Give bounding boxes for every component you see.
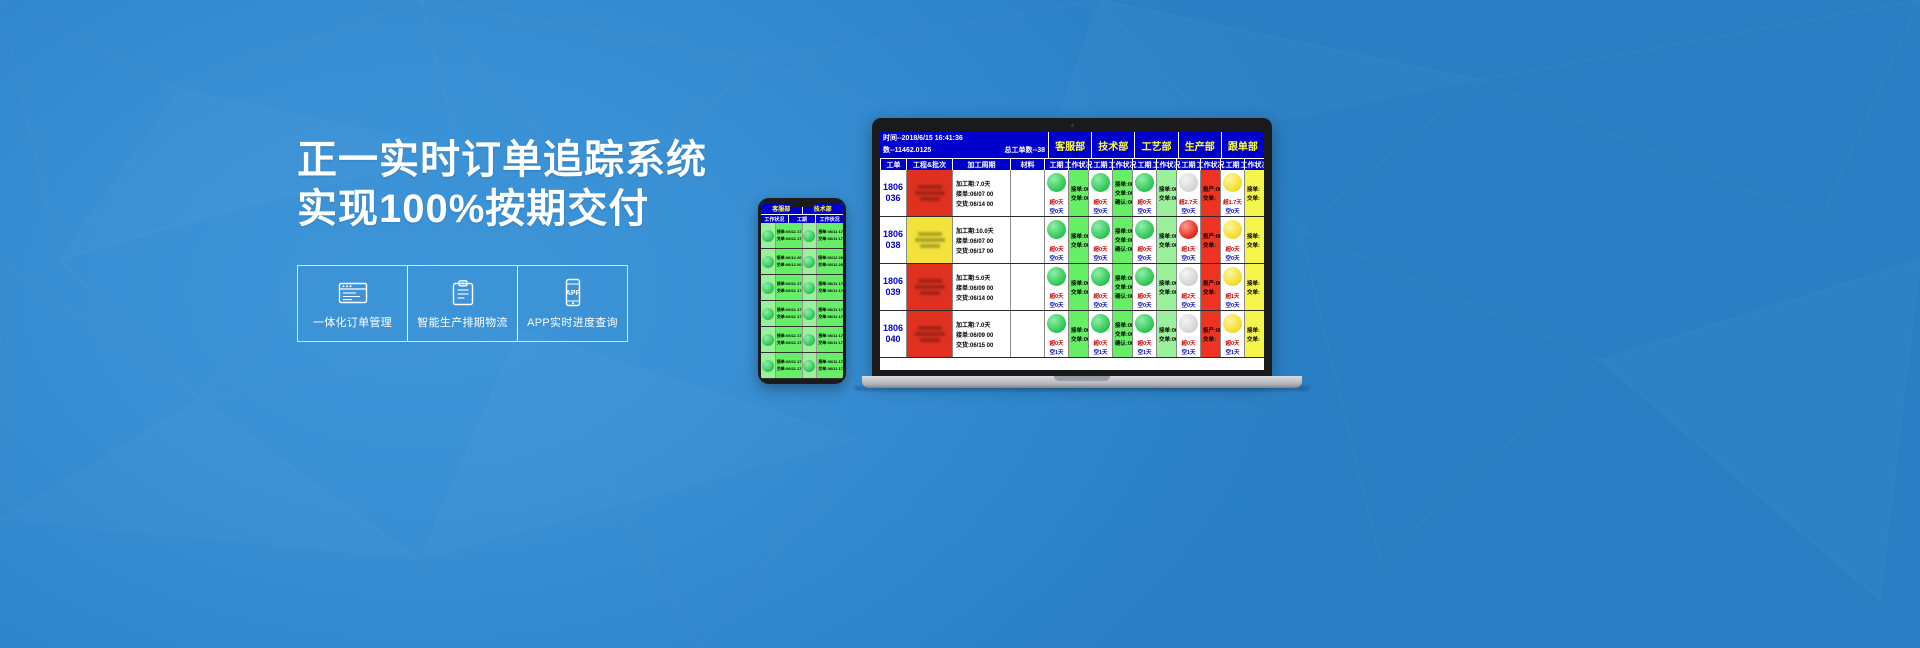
phone-note-cell: 接单:06/11 17交单:06/11 17	[816, 353, 843, 378]
status-indicator-green	[803, 230, 815, 242]
status-note: 交单:06/11 17	[1115, 330, 1130, 338]
status-note: 交单:06/11 17	[777, 366, 802, 372]
meta-number: 数--11462.0125	[883, 145, 931, 157]
laptop-mockup: 时间--2018/6/15 16:41:36 数--11462.0125 总工单…	[862, 118, 1324, 418]
status-indicator-green	[1135, 267, 1154, 286]
status-note: 交单:06/11 17	[777, 236, 802, 242]
duration-tag: 超2天	[1181, 292, 1195, 300]
duration-tag: 空0天	[1049, 207, 1063, 215]
status-note: 交单:06/12 09	[1159, 288, 1174, 296]
status-note: 接单:06/12 20	[777, 255, 802, 261]
duration-tag: 超1天	[1181, 245, 1195, 253]
duration-cell: 超0天空0天	[1044, 217, 1068, 263]
status-note: 交单:	[1247, 194, 1262, 202]
work-order-cell: 1806038	[880, 217, 906, 263]
status-note: 交单:06/11 17	[777, 340, 802, 346]
status-indicator-green	[1091, 314, 1110, 333]
feature-card-order-management[interactable]: 一体化订单管理	[297, 265, 408, 342]
phone-status-cell	[802, 327, 817, 352]
status-note: 接单:06/11 17	[1115, 274, 1130, 282]
status-note: 交单:06/12 20	[777, 262, 802, 268]
phone-column-header: 工作状况 工期 工作状况	[761, 214, 843, 223]
duration-cell: 超0天空0天	[1088, 264, 1112, 310]
status-note: 接单:06/12 20	[1115, 227, 1130, 235]
duration-cell: 超0天空0天	[1044, 170, 1068, 216]
status-note: 接单:	[1247, 232, 1262, 240]
material-cell	[1010, 217, 1044, 263]
status-note: 投产:06/12 09	[1203, 279, 1218, 287]
duration-tag: 空0天	[1225, 301, 1239, 309]
phone-table-row[interactable]: 接单:06/11 17交单:06/11 17接单:06/11 17交单:06/1…	[761, 223, 843, 249]
duration-cell: 超0天空0天	[1132, 217, 1156, 263]
column-label: 工作状况	[1156, 159, 1176, 170]
status-note: 接单:06/14 08	[1159, 232, 1174, 240]
duration-cell: 超0天空1天	[1044, 311, 1068, 357]
column-label: 材料	[1010, 159, 1044, 170]
status-indicator-green	[1135, 173, 1154, 192]
phone-status-cell	[802, 275, 817, 300]
dashboard-table-body: 1806036加工期:7.0天接单:06/07 00交货:06/14 00超0天…	[880, 170, 1264, 370]
smartphone-mockup: 客服部 技术部 工作状况 工期 工作状况 接单:06/11 17交单:06/11…	[758, 198, 846, 384]
duration-tag: 超0天	[1049, 339, 1063, 347]
status-indicator-gray	[1179, 314, 1198, 333]
column-label: 工单	[880, 159, 906, 170]
phone-note-cell: 接单:06/11 17交单:06/11 17	[775, 275, 802, 300]
processing-cycle-cell: 加工期:7.0天接单:06/09 00交货:06/15 00	[952, 311, 1010, 357]
phone-note-cell: 接单:06/11 17交单:06/11 17	[816, 327, 843, 352]
duration-tag: 超0天	[1093, 245, 1107, 253]
dashboard-header: 时间--2018/6/15 16:41:36 数--11462.0125 总工单…	[880, 132, 1264, 158]
status-indicator-yellow	[1223, 220, 1242, 239]
status-note: 交单:06/11 17	[818, 314, 843, 320]
status-note: 接单:	[1247, 185, 1262, 193]
duration-tag: 超0天	[1225, 339, 1239, 347]
duration-cell: 超0天空1天	[1088, 311, 1112, 357]
dashboard-meta: 时间--2018/6/15 16:41:36 数--11462.0125 总工单…	[880, 132, 1048, 158]
status-note: 交单:06/11 17	[1071, 194, 1086, 202]
phone-status-cell	[761, 249, 775, 274]
processing-cycle-cell: 加工期:7.0天接单:06/07 00交货:06/14 00	[952, 170, 1010, 216]
duration-tag: 空0天	[1137, 207, 1151, 215]
project-batch-cell	[906, 311, 952, 357]
duration-tag: 超0天	[1093, 339, 1107, 347]
processing-cycle-cell: 加工期:10.0天接单:06/07 00交货:06/17 00	[952, 217, 1010, 263]
duration-cell: 超0天空0天	[1088, 170, 1112, 216]
hero-banner: 正一实时订单追踪系统 实现100%按期交付 一体化订单管理	[0, 0, 1920, 648]
status-note: 接单:06/11 17	[1115, 180, 1130, 188]
work-status-cell: 投产:06/11 17交单:	[1200, 311, 1220, 357]
phone-screen[interactable]: 客服部 技术部 工作状况 工期 工作状况 接单:06/11 17交单:06/11…	[761, 203, 843, 379]
phone-note-cell: 接单:06/12 20交单:06/12 20	[816, 249, 843, 274]
status-note: 接单:06/11 17	[1159, 326, 1174, 334]
phone-note-cell: 接单:06/11 17交单:06/11 17	[775, 327, 802, 352]
work-status-cell: 接单:06/11 17交单:06/11 17确认:06/11 17	[1112, 170, 1132, 216]
status-note: 接单:	[1247, 326, 1262, 334]
status-note: 投产:06/14 14	[1203, 232, 1218, 240]
work-status-cell: 接单:06/11 17交单:06/11 17	[1068, 264, 1088, 310]
meta-time: 时间--2018/6/15 16:41:36	[883, 133, 1045, 145]
column-header-row: 工单工程&批次加工周期材料工期工作状况工期工作状况工期工作状况工期工作状况工期工…	[880, 158, 1264, 170]
work-status-cell: 接单:交单:	[1244, 264, 1264, 310]
department-title: 跟单部	[1221, 132, 1264, 158]
status-note: 交单:06/14 08	[1115, 236, 1130, 244]
material-cell	[1010, 264, 1044, 310]
phone-notch	[789, 202, 815, 207]
status-note: 确认:06/11 17	[1115, 292, 1130, 300]
status-note: 交单:06/12 09	[1159, 194, 1174, 202]
table-row[interactable]: 1806039加工期:5.0天接单:06/09 00交货:06/14 00超0天…	[880, 264, 1264, 311]
status-note: 接单:06/11 17	[777, 359, 802, 365]
phone-note-cell: 接单:06/11 17交单:06/11 17	[816, 223, 843, 248]
feature-label: 智能生产排期物流	[417, 314, 507, 330]
duration-cell: 超0天空0天	[1220, 217, 1244, 263]
status-note: 接单:	[1247, 279, 1262, 287]
phone-table-row[interactable]: 接单:06/11 17交单:06/11 17接单:06/11 17交单:06/1…	[761, 275, 843, 301]
duration-tag: 空0天	[1137, 301, 1151, 309]
status-indicator-green	[762, 334, 774, 346]
work-status-cell: 接单:交单:	[1244, 170, 1264, 216]
hero-copy: 正一实时订单追踪系统 实现100%按期交付	[297, 136, 717, 234]
work-status-cell: 接单:06/11 17交单:06/11 17	[1068, 311, 1088, 357]
status-indicator-green	[803, 256, 815, 268]
phone-note-cell: 接单:06/11 17交单:06/11 17	[816, 301, 843, 326]
duration-tag: 空0天	[1093, 254, 1107, 262]
duration-cell: 超0天空0天	[1044, 264, 1068, 310]
duration-tag: 空0天	[1049, 254, 1063, 262]
status-note: 交单:	[1203, 335, 1218, 343]
status-indicator-green	[762, 308, 774, 320]
status-note: 交单:	[1203, 288, 1218, 296]
work-status-cell: 接单:06/12 20交单:06/12 20	[1068, 217, 1088, 263]
duration-cell: 超2.7天空0天	[1176, 170, 1200, 216]
duration-tag: 超0天	[1093, 198, 1107, 206]
clipboard-checklist-icon	[450, 278, 476, 308]
duration-tag: 空1天	[1093, 348, 1107, 356]
status-note: 接单:06/12 20	[1071, 232, 1086, 240]
status-note: 交单:06/14 14	[1159, 241, 1174, 249]
status-note: 交单:	[1203, 241, 1218, 249]
phone-note-cell: 接单:06/11 17交单:06/11 17	[816, 275, 843, 300]
status-note: 确认:06/11 17	[1115, 198, 1130, 206]
duration-cell: 超1天空0天	[1220, 264, 1244, 310]
status-indicator-green	[803, 308, 815, 320]
duration-tag: 空0天	[1137, 254, 1151, 262]
phone-status-cell	[802, 353, 817, 378]
phone-note-cell: 接单:06/12 20交单:06/12 20	[775, 249, 802, 274]
laptop-lid: 时间--2018/6/15 16:41:36 数--11462.0125 总工单…	[872, 118, 1272, 380]
status-indicator-green	[762, 360, 774, 372]
duration-cell: 超0天空1天	[1220, 311, 1244, 357]
phone-note-cell: 接单:06/11 17交单:06/11 17	[775, 301, 802, 326]
work-status-cell: 接单:06/11 17交单:06/11 17	[1068, 170, 1088, 216]
status-note: 接单:06/11 17	[1071, 326, 1086, 334]
column-label: 工作状况	[1112, 159, 1132, 170]
duration-tag: 超0天	[1181, 339, 1195, 347]
duration-tag: 空0天	[1181, 254, 1195, 262]
status-indicator-green	[1047, 220, 1066, 239]
status-note: 交单:06/11 17	[777, 288, 802, 294]
duration-tag: 超0天	[1137, 292, 1151, 300]
status-indicator-green	[1047, 173, 1066, 192]
svg-text:APP: APP	[565, 290, 580, 297]
status-indicator-green	[762, 282, 774, 294]
department-title: 生产部	[1178, 132, 1221, 158]
status-indicator-green	[1047, 314, 1066, 333]
status-note: 交单:06/11 17	[777, 314, 802, 320]
status-note: 接单:06/11 17	[818, 307, 843, 313]
material-cell	[1010, 170, 1044, 216]
status-note: 交单:06/12 20	[818, 262, 843, 268]
status-indicator-yellow	[1223, 267, 1242, 286]
status-note: 接单:06/11 17	[818, 359, 843, 365]
status-note: 交单:06/11 17	[1071, 335, 1086, 343]
work-order-cell: 1806036	[880, 170, 906, 216]
feature-card-production-logistics[interactable]: 智能生产排期物流	[407, 265, 518, 342]
phone-table-row[interactable]: 接单:06/11 17交单:06/11 17接单:06/11 17交单:06/1…	[761, 327, 843, 353]
status-note: 交单:06/11 17	[818, 288, 843, 294]
duration-cell: 超2天空0天	[1176, 264, 1200, 310]
work-status-cell: 接单:06/11 17交单:06/12 09	[1156, 170, 1176, 216]
phone-table-row[interactable]: 接单:06/11 17交单:06/11 17接单:06/11 17交单:06/1…	[761, 301, 843, 327]
material-cell	[1010, 311, 1044, 357]
status-indicator-green	[803, 360, 815, 372]
dashboard-screen[interactable]: 时间--2018/6/15 16:41:36 数--11462.0125 总工单…	[880, 132, 1264, 370]
duration-cell: 超0天空1天	[1132, 311, 1156, 357]
work-status-cell: 接单:交单:	[1244, 311, 1264, 357]
phone-table-row[interactable]: 接单:06/11 17交单:06/11 17接单:06/11 17交单:06/1…	[761, 353, 843, 379]
feature-label: 一体化订单管理	[313, 314, 392, 330]
duration-tag: 空0天	[1049, 301, 1063, 309]
duration-cell: 超0天空0天	[1132, 170, 1156, 216]
status-note: 交单:06/12 20	[1071, 241, 1086, 249]
status-indicator-green	[762, 230, 774, 242]
status-note: 交单:	[1247, 335, 1262, 343]
status-indicator-gray	[1179, 267, 1198, 286]
work-order-cell: 1806040	[880, 311, 906, 357]
status-indicator-green	[803, 282, 815, 294]
status-note: 接单:06/11 17	[818, 229, 843, 235]
meta-total-orders: 总工单数--38	[1005, 145, 1045, 157]
phone-note-cell: 接单:06/11 17交单:06/11 17	[775, 353, 802, 378]
status-note: 接单:06/11 17	[1159, 185, 1174, 193]
department-title: 客服部	[1048, 132, 1091, 158]
phone-status-cell	[761, 301, 775, 326]
phone-status-cell	[761, 223, 775, 248]
status-note: 交单:	[1203, 194, 1218, 202]
phone-col-label: 工作状况	[761, 215, 788, 223]
status-note: 接单:06/11 17	[777, 229, 802, 235]
duration-tag: 空0天	[1225, 254, 1239, 262]
status-indicator-green	[1135, 314, 1154, 333]
status-note: 接单:06/11 17	[1115, 321, 1130, 329]
status-indicator-gray	[1179, 173, 1198, 192]
status-note: 交单:06/11 17	[1115, 189, 1130, 197]
work-status-cell: 接单:06/11 17交单:06/11 17确认:06/11 17	[1112, 264, 1132, 310]
duration-tag: 空0天	[1181, 301, 1195, 309]
status-note: 交单:06/11 17	[818, 340, 843, 346]
duration-tag: 超1.7天	[1223, 198, 1242, 206]
status-indicator-yellow	[1223, 173, 1242, 192]
status-note: 投产:06/12 09	[1203, 185, 1218, 193]
project-batch-cell	[906, 264, 952, 310]
project-batch-cell	[906, 170, 952, 216]
status-indicator-red	[1179, 220, 1198, 239]
phone-status-cell	[761, 353, 775, 378]
duration-tag: 空0天	[1093, 301, 1107, 309]
status-note: 交单:06/11 17	[818, 366, 843, 372]
duration-tag: 超0天	[1049, 245, 1063, 253]
phone-status-cell	[761, 275, 775, 300]
browser-window-icon	[338, 278, 368, 308]
work-status-cell: 接单:06/11 17交单:06/11 17确认:06/11 17	[1112, 311, 1132, 357]
feature-list: 一体化订单管理 智能生产排期物流	[297, 265, 628, 342]
work-status-cell: 接单:06/12 20交单:06/14 08确认:06/14 08	[1112, 217, 1132, 263]
table-row[interactable]: 1806038加工期:10.0天接单:06/07 00交货:06/17 00超0…	[880, 217, 1264, 264]
column-label: 工作状况	[1200, 159, 1220, 170]
duration-tag: 超0天	[1049, 292, 1063, 300]
duration-tag: 超0天	[1093, 292, 1107, 300]
duration-cell: 超0天空1天	[1176, 311, 1200, 357]
department-header-row: 客服部技术部工艺部生产部跟单部	[1048, 132, 1264, 158]
status-note: 交单:06/11 17	[1159, 335, 1174, 343]
phone-note-cell: 接单:06/11 17交单:06/11 17	[775, 223, 802, 248]
status-note: 接单:06/12 20	[818, 255, 843, 261]
duration-tag: 空0天	[1093, 207, 1107, 215]
duration-tag: 空1天	[1225, 348, 1239, 356]
feature-card-app-progress-query[interactable]: APP APP实时进度查询	[517, 265, 628, 342]
duration-tag: 超2.7天	[1179, 198, 1198, 206]
work-order-cell: 1806039	[880, 264, 906, 310]
duration-tag: 超0天	[1137, 339, 1151, 347]
work-status-cell: 接单:交单:	[1244, 217, 1264, 263]
status-indicator-green	[1047, 267, 1066, 286]
status-note: 接单:06/11 17	[777, 307, 802, 313]
status-note: 交单:06/11 17	[818, 236, 843, 242]
status-note: 交单:06/11 17	[1071, 288, 1086, 296]
status-note: 投产:06/11 17	[1203, 326, 1218, 334]
duration-tag: 空1天	[1049, 348, 1063, 356]
department-title: 工艺部	[1134, 132, 1177, 158]
laptop-shadow	[854, 386, 1310, 391]
duration-cell: 超0天空0天	[1132, 264, 1156, 310]
status-indicator-green	[762, 256, 774, 268]
duration-cell: 超0天空0天	[1088, 217, 1112, 263]
work-status-cell: 投产:06/12 09交单:	[1200, 264, 1220, 310]
phone-status-cell	[802, 249, 817, 274]
status-note: 确认:06/11 17	[1115, 339, 1130, 347]
phone-status-cell	[802, 301, 817, 326]
phone-body: 客服部 技术部 工作状况 工期 工作状况 接单:06/11 17交单:06/11…	[758, 198, 846, 384]
column-label: 工作状况	[1244, 159, 1264, 170]
status-indicator-green	[803, 334, 815, 346]
duration-tag: 空1天	[1137, 348, 1151, 356]
work-status-cell: 接单:06/11 17交单:06/12 09	[1156, 264, 1176, 310]
status-indicator-yellow	[1223, 314, 1242, 333]
phone-col-label: 工作状况	[815, 215, 843, 223]
status-indicator-green	[1091, 220, 1110, 239]
duration-tag: 空1天	[1181, 348, 1195, 356]
duration-tag: 超0天	[1137, 245, 1151, 253]
mobile-app-icon: APP	[562, 278, 584, 308]
status-note: 接单:06/11 17	[1071, 279, 1086, 287]
duration-tag: 超0天	[1049, 198, 1063, 206]
duration-tag: 超0天	[1225, 245, 1239, 253]
status-note: 交单:06/11 17	[1115, 283, 1130, 291]
status-note: 接单:06/11 17	[1071, 185, 1086, 193]
department-title: 技术部	[1091, 132, 1134, 158]
phone-col-label: 工期	[788, 215, 816, 223]
status-indicator-green	[1091, 173, 1110, 192]
headline-line-2: 实现100%按期交付	[297, 185, 717, 234]
phone-row-list: 接单:06/11 17交单:06/11 17接单:06/11 17交单:06/1…	[761, 223, 843, 379]
duration-tag: 空0天	[1225, 207, 1239, 215]
column-label: 加工周期	[952, 159, 1010, 170]
phone-status-cell	[761, 327, 775, 352]
status-note: 接单:06/11 17	[777, 281, 802, 287]
phone-table-row[interactable]: 接单:06/12 20交单:06/12 20接单:06/12 20交单:06/1…	[761, 249, 843, 275]
work-status-cell: 投产:06/12 09交单:	[1200, 170, 1220, 216]
feature-label: APP实时进度查询	[527, 314, 618, 330]
work-status-cell: 投产:06/14 14交单:	[1200, 217, 1220, 263]
status-note: 交单:	[1247, 288, 1262, 296]
processing-cycle-cell: 加工期:5.0天接单:06/09 00交货:06/14 00	[952, 264, 1010, 310]
phone-status-cell	[802, 223, 817, 248]
duration-cell: 超1天空0天	[1176, 217, 1200, 263]
headline-line-1: 正一实时订单追踪系统	[297, 136, 717, 185]
status-indicator-green	[1135, 220, 1154, 239]
work-status-cell: 接单:06/11 17交单:06/11 17	[1156, 311, 1176, 357]
status-note: 接单:06/11 17	[818, 333, 843, 339]
column-label: 工作状况	[1068, 159, 1088, 170]
duration-cell: 超1.7天空0天	[1220, 170, 1244, 216]
duration-tag: 超1天	[1225, 292, 1239, 300]
status-note: 交单:	[1247, 241, 1262, 249]
table-row[interactable]: 1806036加工期:7.0天接单:06/07 00交货:06/14 00超0天…	[880, 170, 1264, 217]
status-note: 接单:06/11 17	[818, 281, 843, 287]
status-note: 接单:06/11 17	[1159, 279, 1174, 287]
work-status-cell: 接单:06/14 08交单:06/14 14	[1156, 217, 1176, 263]
status-indicator-green	[1091, 267, 1110, 286]
project-batch-cell	[906, 217, 952, 263]
duration-tag: 空0天	[1181, 207, 1195, 215]
column-label: 工程&批次	[906, 159, 952, 170]
status-note: 确认:06/14 08	[1115, 245, 1130, 253]
status-note: 接单:06/11 17	[777, 333, 802, 339]
duration-tag: 超0天	[1137, 198, 1151, 206]
table-row[interactable]: 1806040加工期:7.0天接单:06/09 00交货:06/15 00超0天…	[880, 311, 1264, 358]
